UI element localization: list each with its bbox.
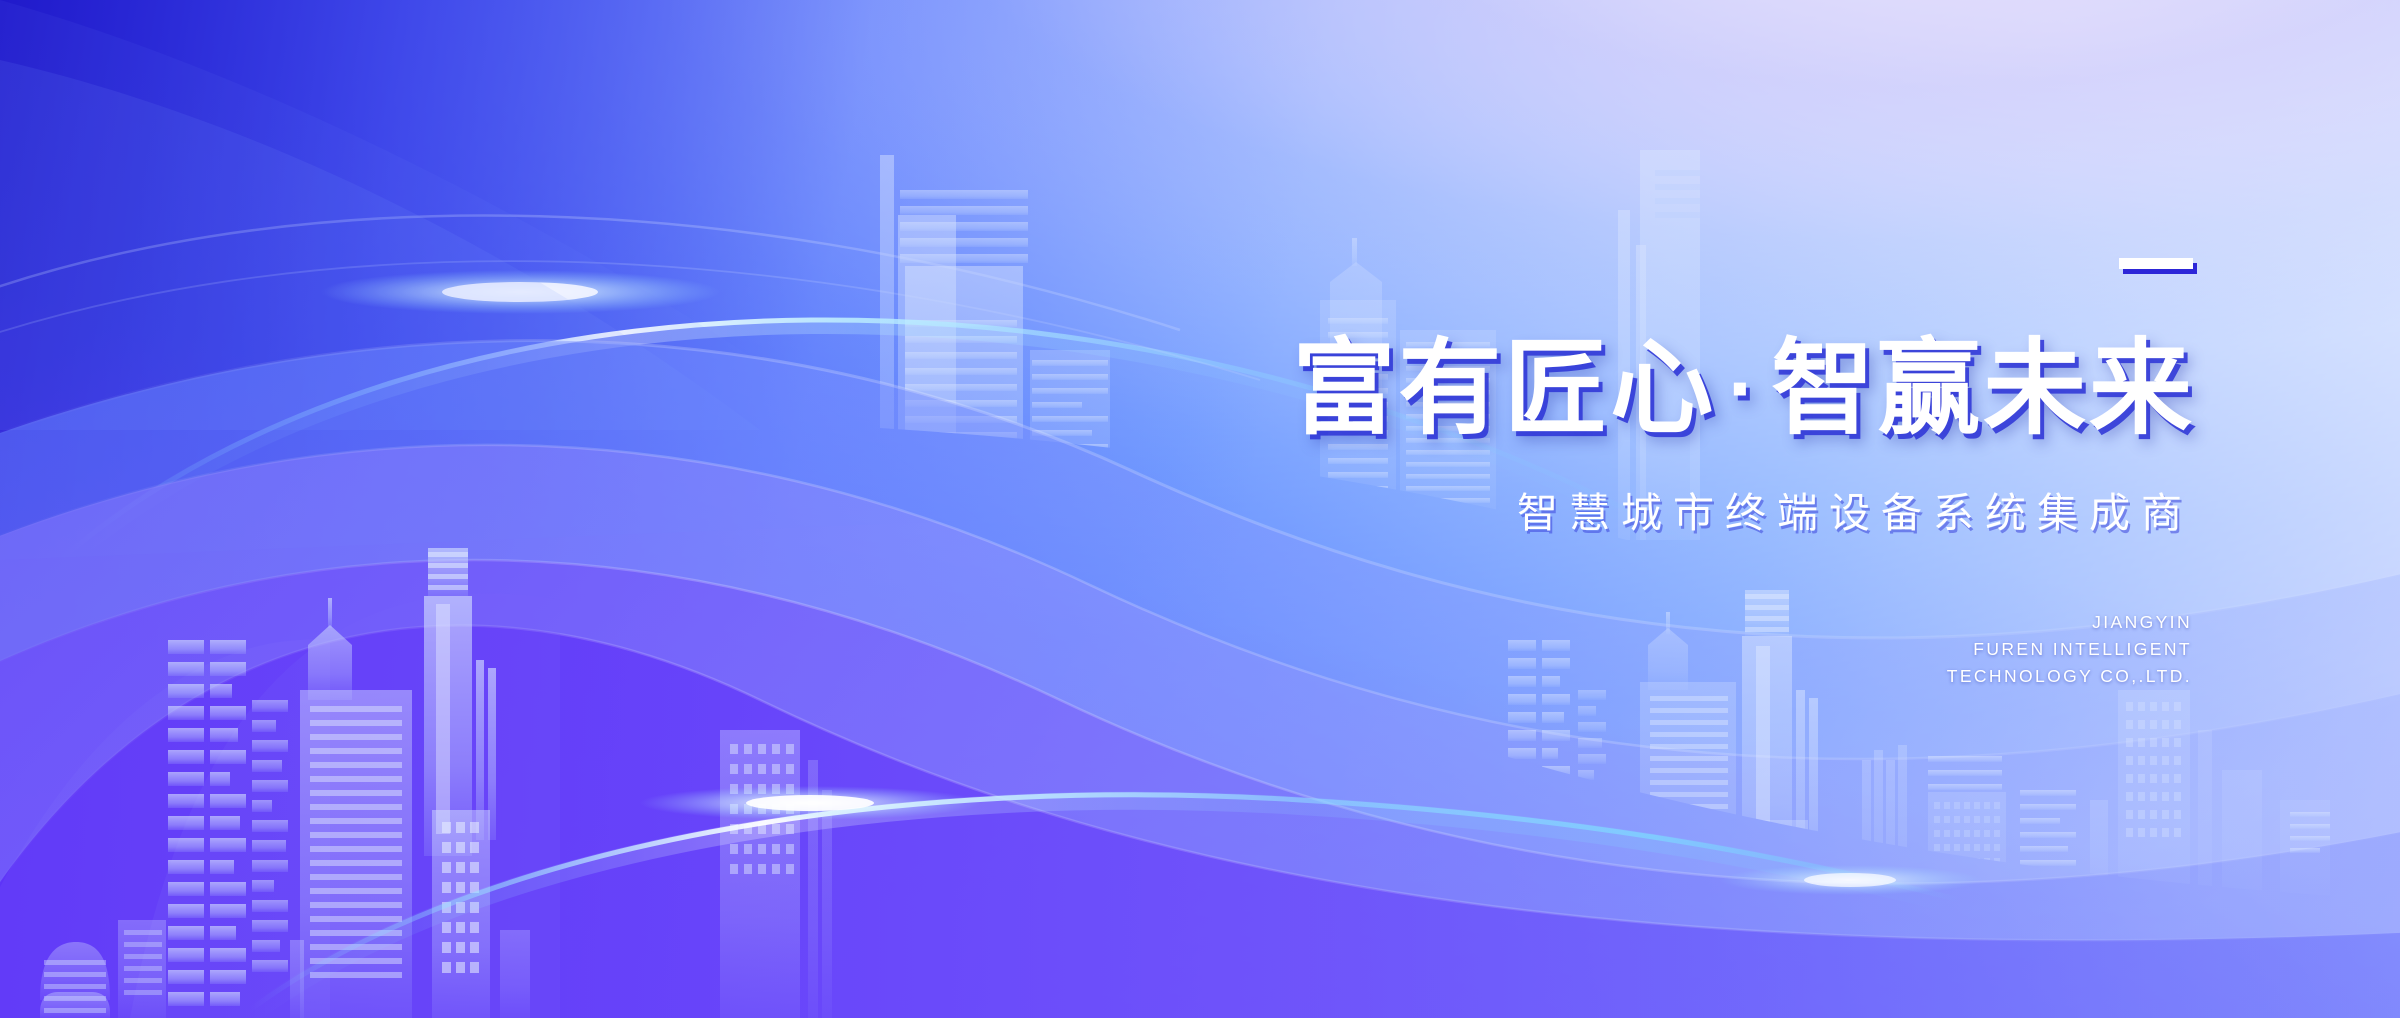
headline-right: 智赢未来 xyxy=(1771,331,2195,447)
company-line-3: TECHNOLOGY CO,.LTD. xyxy=(1015,663,2192,690)
company-name-block: JIANGYIN FUREN INTELLIGENT TECHNOLOGY CO… xyxy=(1015,609,2195,690)
headline-text-block: 富有匠心·智赢未来 智慧城市终端设备系统集成商 JIANGYIN FUREN I… xyxy=(1015,258,2195,690)
decorative-dash-icon xyxy=(2119,258,2193,269)
banner-root: 富有匠心·智赢未来 智慧城市终端设备系统集成商 JIANGYIN FUREN I… xyxy=(0,0,2400,1018)
headline-left: 富有匠心 xyxy=(1292,331,1716,447)
company-line-1: JIANGYIN xyxy=(1015,609,2192,636)
company-line-2: FUREN INTELLIGENT xyxy=(1015,636,2192,663)
page-title: 富有匠心·智赢未来 xyxy=(1027,336,2195,443)
headline-separator: · xyxy=(1716,341,1771,437)
subtitle: 智慧城市终端设备系统集成商 xyxy=(1015,479,2195,539)
